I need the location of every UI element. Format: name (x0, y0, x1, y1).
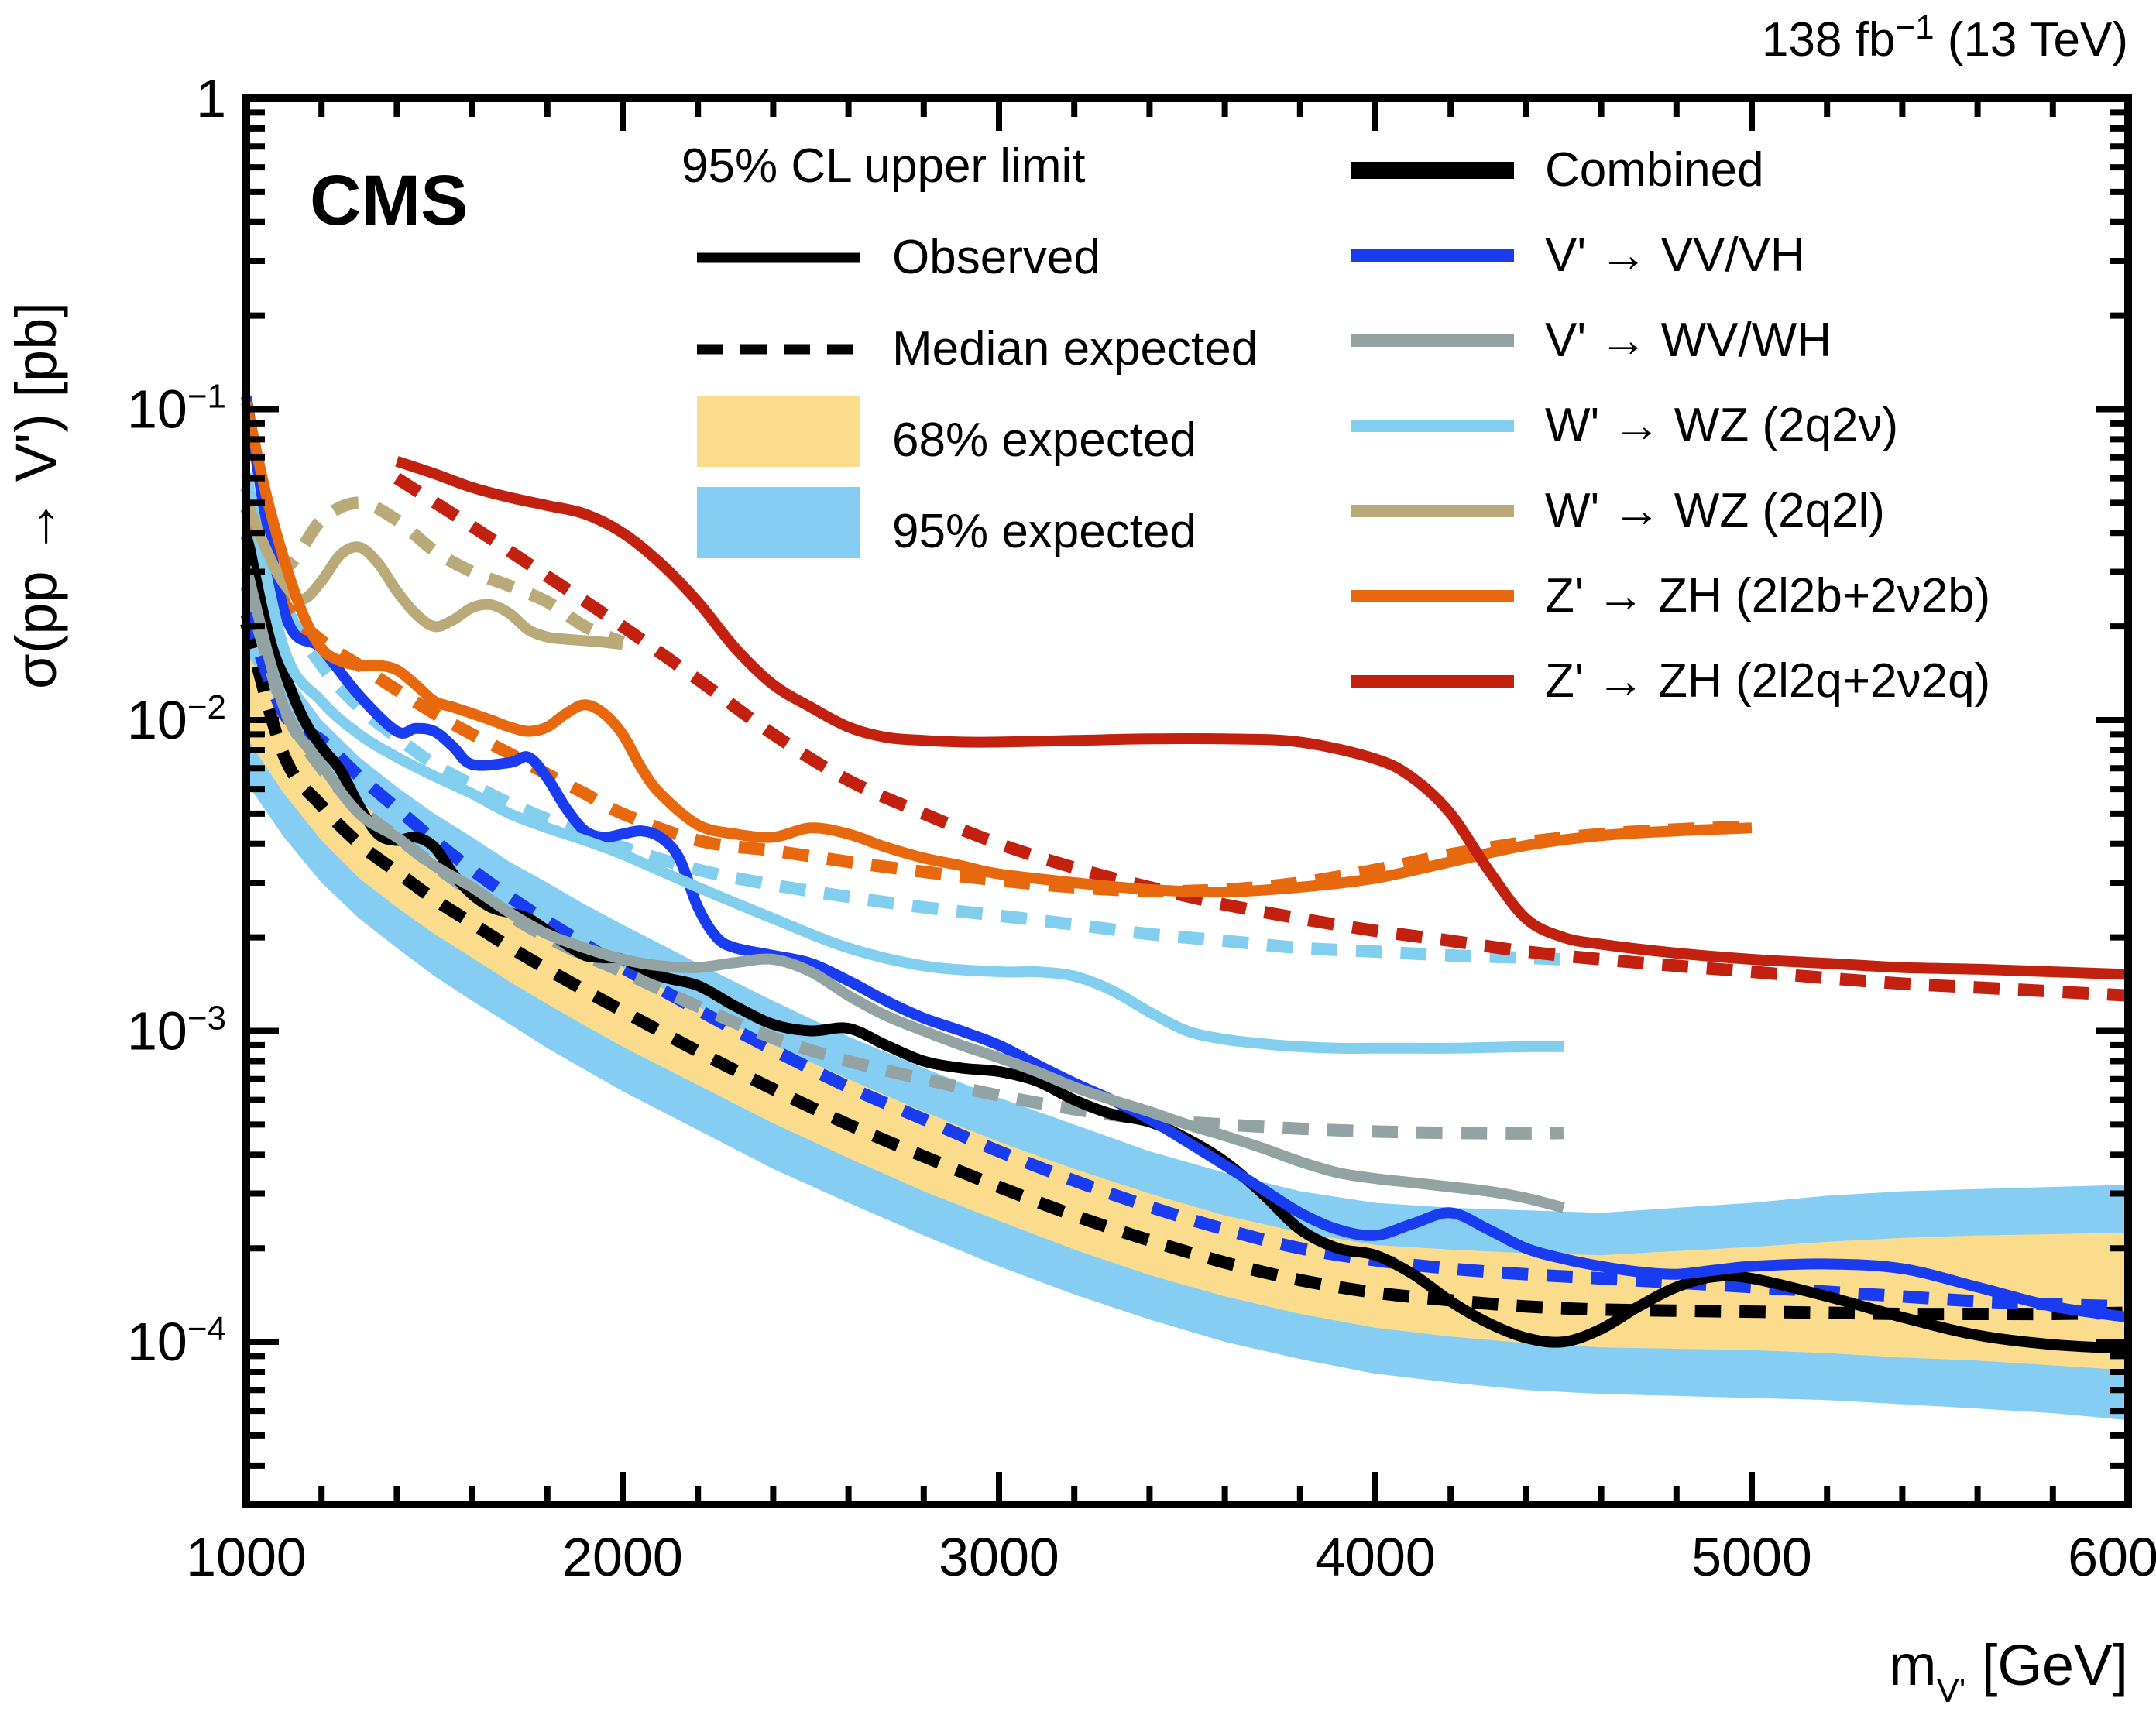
legend-label-wz_2q2nu: W' → WZ (2q2ν) (1545, 399, 1898, 452)
exclusion-limit-chart: 138 fb−1 (13 TeV) 1000200030004000500060… (0, 0, 2156, 1715)
legend-label-combined: Combined (1545, 143, 1764, 197)
legend-swatch-68-expected (697, 396, 860, 467)
cms-logo-label: CMS (310, 161, 468, 240)
x-tick-label: 1000 (186, 1527, 307, 1587)
y-tick-label: 1 (196, 68, 226, 129)
legend-label: 95% expected (892, 505, 1196, 558)
legend-label-vv_vh: V' → VV/VH (1545, 228, 1805, 282)
legend-label-zh_2l2b: Z' → ZH (2l2b+2ν2b) (1545, 569, 1990, 623)
legend-label: Observed (892, 231, 1100, 284)
luminosity-energy-label: 138 fb−1 (13 TeV) (1762, 9, 2128, 67)
x-tick-label: 4000 (1315, 1527, 1436, 1587)
y-axis-title: σ(pp → V') [pb] (4, 302, 68, 689)
x-tick-label: 5000 (1691, 1527, 1812, 1587)
x-tick-label: 2000 (562, 1527, 683, 1587)
x-tick-label: 6000 (2068, 1527, 2156, 1587)
legend-label-wz_2q2l: W' → WZ (2q2l) (1545, 484, 1885, 537)
legend-label: Median expected (892, 322, 1258, 376)
legend-title: 95% CL upper limit (681, 139, 1086, 193)
x-tick-label: 3000 (939, 1527, 1059, 1587)
legend-label-wv_wh: V' → WV/WH (1545, 314, 1832, 367)
legend-label: 68% expected (892, 413, 1196, 467)
legend-swatch-95-expected (697, 487, 860, 558)
legend-label-zh_2l2q: Z' → ZH (2l2q+2ν2q) (1545, 654, 1990, 708)
